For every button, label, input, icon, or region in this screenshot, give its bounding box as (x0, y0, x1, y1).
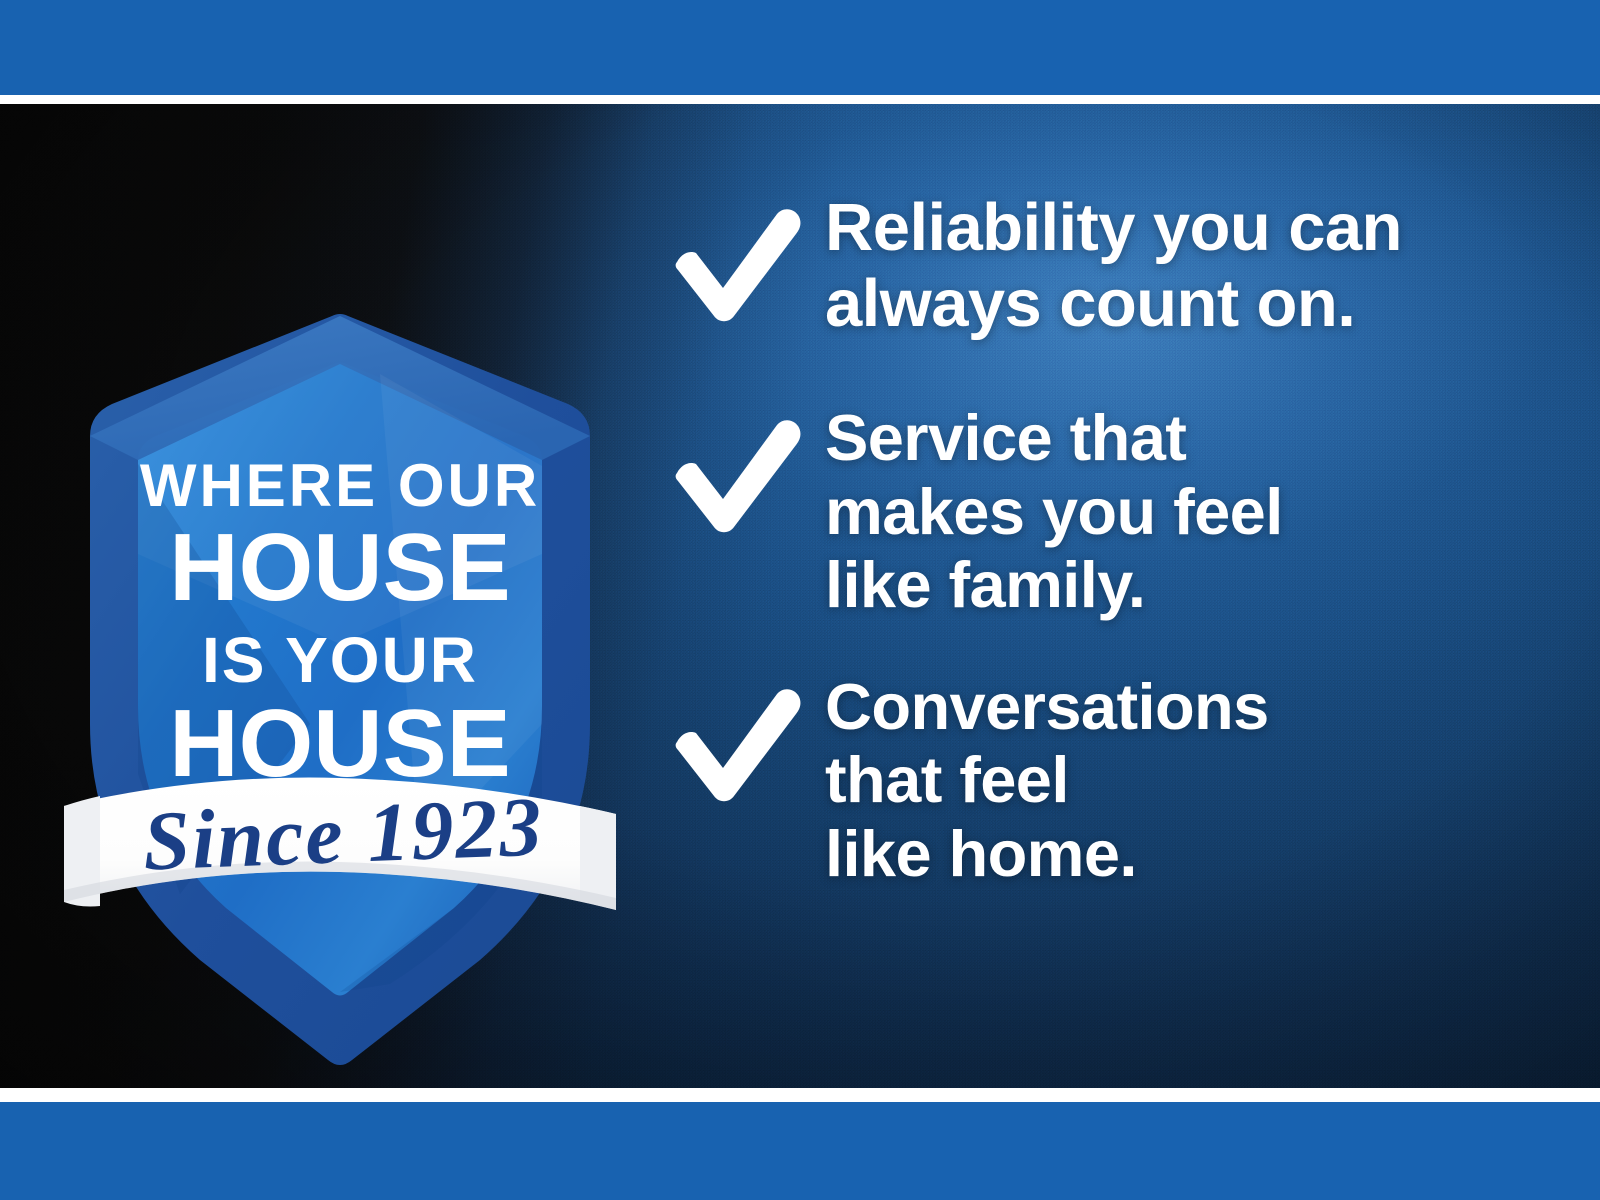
ribbon-text: Since 1923 (141, 780, 545, 888)
list-item-label: Reliability you can always count on. (825, 190, 1545, 341)
list-item: Reliability you can always count on. (665, 190, 1545, 341)
shield-emblem: WHERE OUR HOUSE IS YOUR HOUSE Si (60, 254, 620, 1084)
promo-poster: WHERE OUR HOUSE IS YOUR HOUSE Si (0, 0, 1600, 1200)
checkmark-icon (665, 670, 825, 804)
top-white-divider (0, 95, 1600, 104)
top-brand-bar (0, 0, 1600, 95)
bottom-brand-bar (0, 1102, 1600, 1200)
checkmark-icon (665, 401, 825, 535)
shield-line-2: HOUSE (169, 514, 510, 621)
benefit-list: Reliability you can always count on. Ser… (665, 190, 1545, 890)
shield-line-1: WHERE OUR (140, 452, 540, 519)
shield-line-3: IS YOUR (202, 624, 478, 696)
list-item-label: Conversations that feel like home. (825, 670, 1545, 890)
bottom-white-divider (0, 1088, 1600, 1102)
list-item: Service that makes you feel like family. (665, 401, 1545, 621)
poster-stage: WHERE OUR HOUSE IS YOUR HOUSE Si (0, 104, 1600, 1088)
checkmark-icon (665, 190, 825, 324)
list-item-label: Service that makes you feel like family. (825, 401, 1545, 621)
list-item: Conversations that feel like home. (665, 670, 1545, 890)
